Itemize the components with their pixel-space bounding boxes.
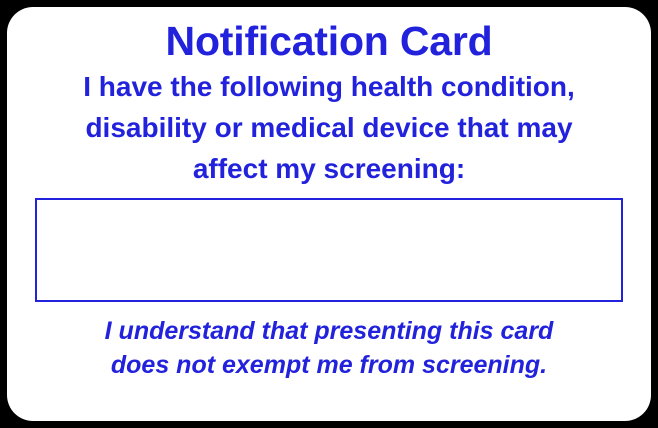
statement-line-1: I have the following health condition, — [7, 73, 651, 101]
disclaimer-line-1: I understand that presenting this card — [7, 319, 651, 344]
disclaimer-line-2: does not exempt me from screening. — [7, 353, 651, 378]
statement-line-3: affect my screening: — [7, 155, 651, 183]
statement-line-2: disability or medical device that may — [7, 114, 651, 142]
notification-card-screen: Notification Card I have the following h… — [0, 0, 658, 428]
statement-text: I have the following health condition, d… — [7, 73, 651, 196]
notification-card: Notification Card I have the following h… — [7, 7, 651, 421]
disclaimer-text: I understand that presenting this card d… — [7, 319, 651, 387]
page-title: Notification Card — [7, 21, 651, 62]
condition-writein-field[interactable] — [35, 198, 623, 302]
